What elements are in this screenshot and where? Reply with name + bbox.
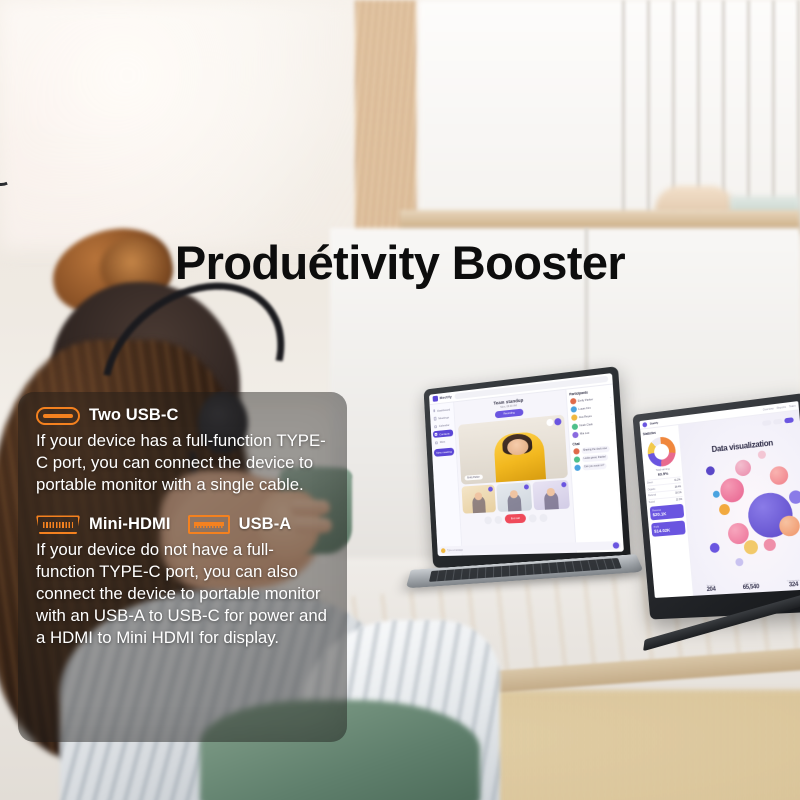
- legend-row: Social 12.3%: [649, 496, 683, 504]
- view-toggle-list[interactable]: [762, 420, 771, 426]
- portable-monitor: Statify Overview Reports Team Statistics…: [627, 397, 800, 624]
- avatar: [573, 456, 580, 463]
- participant-video-tiles: [461, 480, 569, 514]
- legend-name: Direct: [647, 481, 653, 484]
- legend-name: Referral: [648, 494, 656, 498]
- monitor-screen: Statify Overview Reports Team Statistics…: [639, 401, 800, 598]
- menu-item-reports[interactable]: Reports: [777, 405, 787, 409]
- app-body: Dashboard Meetings Calendar Contact: [430, 384, 624, 556]
- dashboard-logo-icon: [642, 422, 647, 427]
- new-meeting-button[interactable]: New meeting: [434, 447, 455, 456]
- meetings-icon: [434, 417, 437, 420]
- legend-value: 41.2%: [674, 478, 681, 482]
- avatar: [572, 431, 578, 438]
- sidebar-item-contacts[interactable]: Contacts: [433, 429, 454, 438]
- calendar-icon: [434, 425, 437, 428]
- legend-value: 18.1%: [675, 491, 682, 495]
- avatar: [570, 398, 576, 405]
- mini-hdmi-port-icon: [36, 515, 80, 534]
- data-visualization-area: Data visualization Sessions 204 Impressi…: [679, 410, 800, 595]
- app-name: Meetify: [440, 395, 452, 400]
- feature-label-usb-c: Two USB-C: [89, 406, 179, 425]
- avatar: [571, 423, 577, 430]
- stat-impressions: Impressions 65,540: [742, 582, 759, 591]
- page-title: Produétivity Booster: [0, 235, 800, 290]
- bubble: [713, 490, 720, 498]
- app-brand: Meetify: [433, 394, 452, 402]
- participant-name: Lucas Kim: [578, 405, 608, 411]
- legend-value: 12.3%: [676, 498, 683, 502]
- wood-slats: [355, 0, 417, 235]
- app-logo-icon: [433, 396, 439, 402]
- sidebar-label: Contacts: [439, 431, 450, 436]
- stat-value: 204: [707, 587, 716, 593]
- feature-description-usb-c: If your device has a full-function TYPE-…: [36, 430, 331, 495]
- features-panel: Two USB-C If your device has a full-func…: [18, 392, 347, 742]
- dashboard-body: Statistics Total earning 63.5% Direct 41…: [640, 410, 800, 598]
- panel-spacer: [36, 495, 331, 515]
- bubble: [709, 542, 719, 553]
- user-avatar: [441, 548, 446, 553]
- view-toggle-grid[interactable]: [773, 419, 783, 425]
- tile-face: [474, 492, 482, 500]
- menu-item-team[interactable]: Team: [789, 404, 796, 408]
- dashboard-stat-row: Sessions 204 Impressions 65,540 Conversi…: [693, 579, 800, 594]
- bubble: [763, 538, 776, 551]
- kpi-card-profit[interactable]: Profit $14.02K: [651, 521, 686, 537]
- bubble: [769, 466, 789, 486]
- feature-header-usb-c: Two USB-C: [36, 406, 331, 425]
- stat-sessions: Sessions 204: [706, 585, 715, 593]
- feature-label-mini-hdmi: Mini-HDMI: [89, 515, 171, 534]
- bubble: [735, 558, 744, 567]
- sidebar-label: Dashboard: [437, 407, 450, 412]
- bubble: [758, 450, 767, 459]
- bubble: [734, 459, 751, 477]
- feature-label-usb-a: USB-A: [239, 515, 292, 534]
- send-icon[interactable]: [613, 542, 620, 549]
- bubble: [719, 503, 731, 515]
- kpi-card-revenue[interactable]: Revenue $20.1K: [649, 504, 684, 521]
- bubble: [706, 466, 715, 476]
- tile-badge-icon[interactable]: [488, 487, 493, 492]
- sidebar-label: Calendar: [439, 423, 450, 428]
- files-icon: [435, 441, 438, 444]
- video-tile[interactable]: [461, 484, 496, 513]
- panel-title: Statistics: [643, 428, 677, 436]
- legend-name: Organic: [648, 487, 656, 491]
- tile-face: [510, 490, 519, 498]
- mic-status-icon[interactable]: ◦: [612, 421, 613, 424]
- avatar: [570, 406, 576, 413]
- camera-icon[interactable]: [494, 515, 502, 523]
- participant-name: Emily Parker: [578, 396, 608, 402]
- view-toggle-group: [762, 417, 794, 426]
- mic-status-icon[interactable]: ◦: [610, 396, 611, 399]
- sidebar-label: Meetings: [438, 415, 449, 420]
- message-placeholder: Type a message: [447, 544, 611, 552]
- tile-face: [546, 488, 555, 496]
- donut-chart: [646, 436, 676, 468]
- menu-item-overview[interactable]: Overview: [763, 407, 774, 411]
- legend-name: Social: [649, 501, 655, 504]
- chat-text: Sharing the deck now: [581, 445, 609, 453]
- participant-name: Mia Lee: [580, 430, 610, 436]
- call-controls: End call: [463, 512, 570, 526]
- stat-value: 65,540: [743, 584, 760, 591]
- bubble: [744, 539, 759, 554]
- stat-conversions: Conversions 324: [787, 580, 800, 589]
- chat-text: Can you zoom in?: [582, 462, 607, 470]
- avatar: [571, 415, 577, 422]
- chat-text: Looks great, thanks!: [581, 454, 608, 462]
- stat-value: 324: [787, 582, 800, 589]
- active-speaker-video[interactable]: Emily Parker: [458, 414, 568, 484]
- recording-badge[interactable]: Recording: [495, 409, 524, 419]
- bubble: [719, 477, 745, 503]
- mic-status-icon[interactable]: ◦: [611, 404, 612, 407]
- laptop: Meetify Dashboard Meetings: [405, 371, 631, 597]
- mic-status-icon[interactable]: ◦: [612, 430, 613, 433]
- tile-badge-icon[interactable]: [524, 484, 529, 489]
- end-call-button[interactable]: End call: [505, 514, 527, 524]
- feature-description-hdmi-usba: If your device do not have a full-functi…: [36, 539, 331, 648]
- tile-badge-icon[interactable]: [561, 482, 566, 487]
- promo-image: Meetify Dashboard Meetings: [0, 0, 800, 800]
- share-screen-icon[interactable]: [529, 514, 537, 522]
- usb-c-port-icon: [36, 407, 80, 425]
- usb-a-port-icon: [188, 515, 230, 534]
- legend-value: 28.4%: [675, 485, 682, 489]
- meeting-main-area: Team standup Mon, 09:30 AM Recording Emi…: [454, 390, 576, 556]
- dashboard-app-name: Statify: [650, 421, 659, 426]
- monitor-bezel: Statify Overview Reports Team Statistics…: [632, 393, 800, 620]
- avatar: [573, 448, 579, 455]
- sidebar-item-files[interactable]: Files: [433, 437, 454, 446]
- bubble: [788, 489, 800, 504]
- sidebar-label: Files: [440, 440, 446, 444]
- dashboard-icon: [433, 409, 435, 412]
- contacts-icon: [435, 433, 438, 436]
- laptop-lid: Meetify Dashboard Meetings: [424, 366, 632, 568]
- chat-message: Can you zoom in?: [574, 462, 616, 471]
- participant-name: Ava Reyes: [579, 413, 609, 419]
- participant-name: Noah Clark: [579, 422, 609, 428]
- more-options-icon[interactable]: [539, 513, 547, 521]
- view-toggle-bubble[interactable]: [784, 417, 794, 423]
- mic-icon[interactable]: [484, 516, 492, 524]
- video-tile[interactable]: [532, 480, 569, 510]
- laptop-screen: Meetify Dashboard Meetings: [429, 373, 624, 556]
- video-tile[interactable]: [496, 482, 532, 512]
- mic-status-icon[interactable]: ◦: [611, 413, 612, 416]
- feature-header-hdmi-usba: Mini-HDMI USB-A: [36, 515, 331, 534]
- avatar: [574, 464, 581, 471]
- participant-row[interactable]: Mia Lee ◦: [572, 428, 614, 438]
